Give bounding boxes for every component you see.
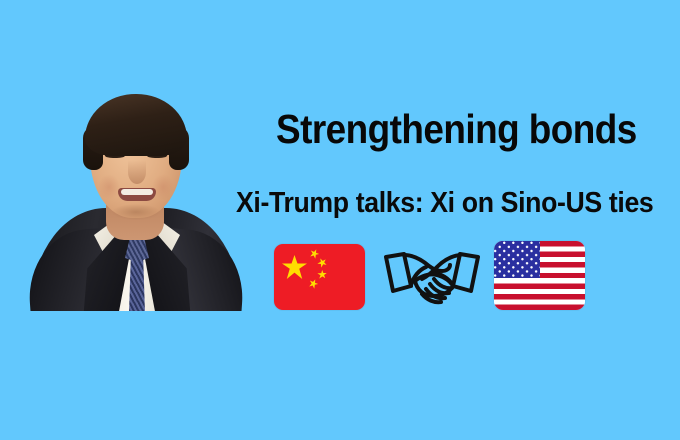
usa-flag-canton xyxy=(494,241,540,278)
mouth xyxy=(118,188,156,201)
china-flag-small-star-1 xyxy=(309,248,321,260)
china-flag-small-star-3 xyxy=(317,269,329,281)
handshake-icon xyxy=(384,248,480,308)
cheek-left xyxy=(98,174,120,200)
china-flag-large-star xyxy=(282,255,307,279)
chin-shadow xyxy=(112,204,160,220)
flags-row xyxy=(272,238,588,314)
usa-flag-stars xyxy=(494,241,540,278)
portrait-figure xyxy=(28,80,244,311)
china-flag xyxy=(274,244,365,310)
hair xyxy=(85,94,187,156)
china-flag-small-star-2 xyxy=(316,256,329,269)
news-banner: Strengthening bonds Xi-Trump talks: Xi o… xyxy=(0,0,680,440)
portrait-photo xyxy=(28,80,244,311)
teeth xyxy=(121,189,153,195)
subheadline-text: Xi-Trump talks: Xi on Sino-US ties xyxy=(236,187,622,220)
nose xyxy=(128,160,146,184)
headline-text: Strengthening bonds xyxy=(276,106,593,152)
cheek-right xyxy=(152,174,174,200)
china-flag-small-star-4 xyxy=(308,278,320,290)
usa-flag xyxy=(494,241,585,310)
necktie-knot xyxy=(125,240,149,262)
